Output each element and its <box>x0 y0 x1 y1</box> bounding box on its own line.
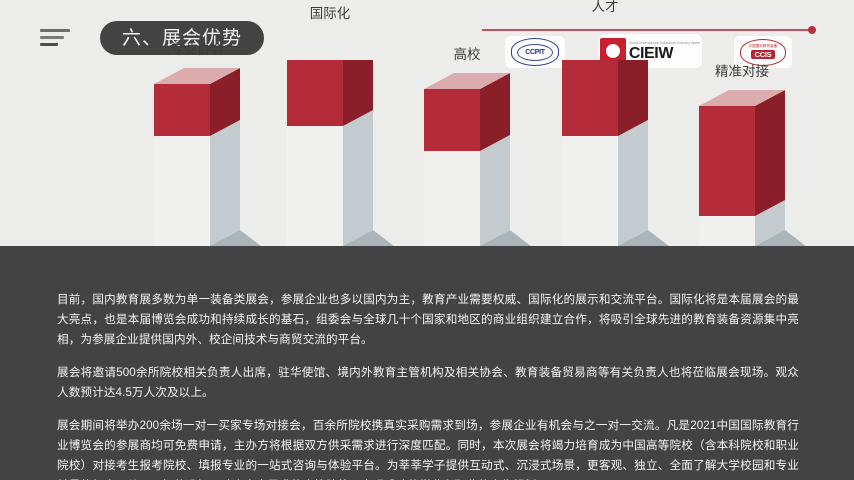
bar-cap-front <box>154 84 210 136</box>
bar-column-front <box>424 151 480 246</box>
description-paragraph: 展会将邀请500余所院校相关负责人出席，驻华使馆、境内外教育主管机构及相关协会、… <box>57 363 799 403</box>
bar-column-front <box>699 216 755 246</box>
bar-column-side <box>618 120 648 246</box>
ccis-subtitle: 中国国际教育装备 <box>749 45 778 48</box>
bar-column-side <box>210 120 240 246</box>
slide-canvas: 六、展会优势 CCPIT China International Educati… <box>0 0 854 480</box>
bar-cap-front <box>699 106 755 216</box>
bar-label: 高校 <box>454 43 481 63</box>
bar-label: 人才 <box>592 0 619 15</box>
bar-column-side <box>480 135 510 246</box>
cieiw-globe-icon <box>605 43 621 59</box>
hamburger-menu-icon[interactable] <box>40 29 70 51</box>
header-rule <box>482 29 812 31</box>
header-rule-dot <box>808 26 816 34</box>
bar-label: 精准对接 <box>715 60 769 80</box>
ccis-label: CCIS <box>751 50 776 59</box>
bar-cap-front <box>424 89 480 151</box>
bar-label: 国际化 <box>310 2 351 22</box>
hamburger-line-2 <box>40 36 64 39</box>
cieiw-text-block: China International Education Industry W… <box>629 41 700 60</box>
hamburger-line-3 <box>40 43 58 46</box>
hamburger-line-1 <box>40 29 70 32</box>
ccpit-label: CCPIT <box>525 49 545 56</box>
bar-cap-front <box>562 60 618 136</box>
description-paragraph: 展会期间将举办200余场一对一买家专场对接会，百余所院校携真实采购需求到场，参展… <box>57 416 799 480</box>
bar-cap-side <box>755 90 785 216</box>
bar-cap-front <box>287 60 343 126</box>
bar-label: 专业协会 <box>170 38 224 58</box>
bar-column-side <box>343 110 373 246</box>
cieiw-label: CIEIW <box>629 46 700 61</box>
description-panel: 目前，国内教育展多数为单一装备类展会，参展企业也多以国内为主，教育产业需要权威、… <box>0 246 854 480</box>
bar-column-front <box>287 126 343 246</box>
bar-column-front <box>154 136 210 246</box>
bar-column-front <box>562 136 618 246</box>
ccpit-inner-ring: CCPIT <box>517 44 553 61</box>
description-paragraph: 目前，国内教育展多数为单一装备类展会，参展企业也多以国内为主，教育产业需要权威、… <box>57 290 799 350</box>
description-text: 目前，国内教育展多数为单一装备类展会，参展企业也多以国内为主，教育产业需要权威、… <box>57 290 799 480</box>
